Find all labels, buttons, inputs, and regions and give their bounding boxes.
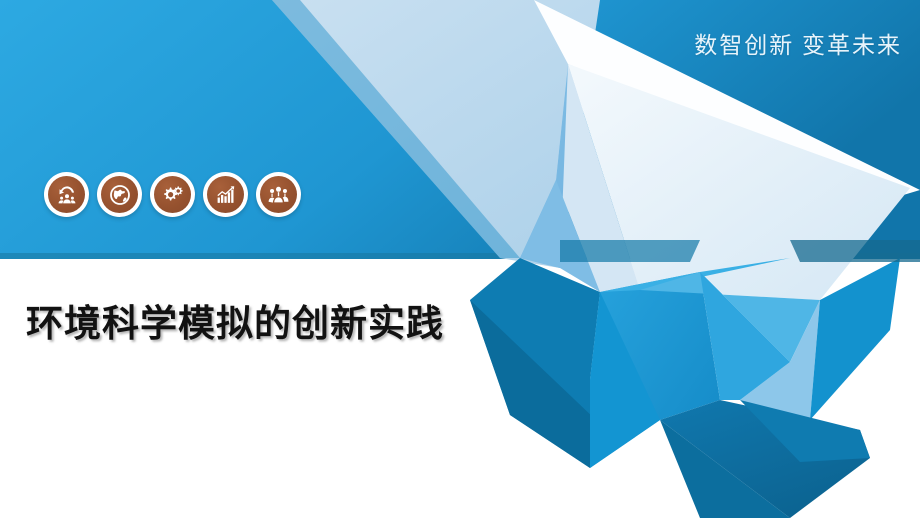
recycle-people-icon (48, 176, 85, 213)
people-group-icon (260, 176, 297, 213)
bar-chart-growth-icon (207, 176, 244, 213)
polygon-background (0, 0, 920, 518)
header-tagline: 数智创新 变革未来 (694, 26, 902, 60)
icon-badge-bar-chart[interactable] (203, 172, 248, 217)
icon-row (44, 172, 301, 217)
icon-badge-recycle-people[interactable] (44, 172, 89, 217)
icon-badge-people-group[interactable] (256, 172, 301, 217)
poly-band-dark-strip (790, 240, 920, 262)
gears-icon (154, 176, 191, 213)
poly-band-dark-strip-2 (560, 240, 700, 262)
page-title: 环境科学模拟的创新实践 (26, 293, 444, 347)
globe-icon (101, 176, 138, 213)
slide-canvas: 数智创新 变革未来 (0, 0, 920, 518)
icon-badge-globe[interactable] (97, 172, 142, 217)
icon-badge-gears[interactable] (150, 172, 195, 217)
